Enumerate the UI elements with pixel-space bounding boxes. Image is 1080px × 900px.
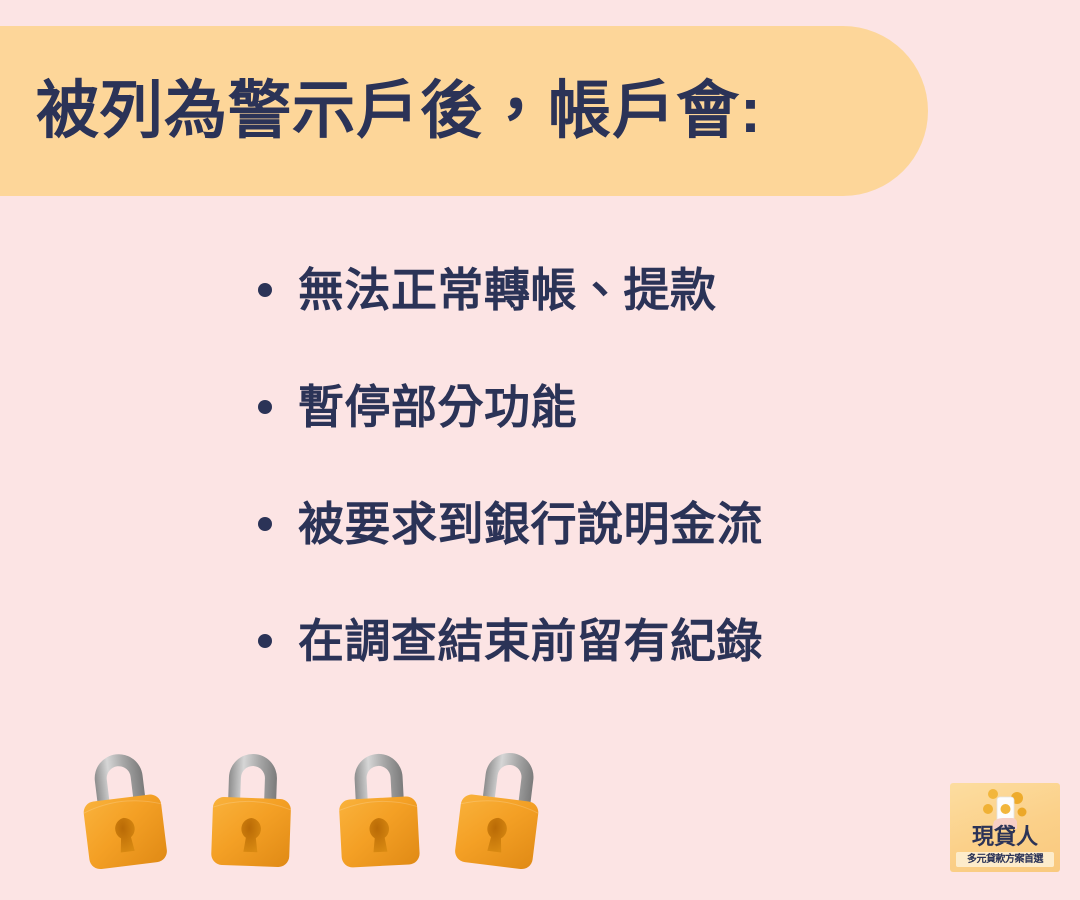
list-item: 暫停部分功能 (258, 372, 958, 442)
padlock-closed-icon (66, 735, 177, 876)
slide-canvas: 被列為警示戶後，帳戶會: 無法正常轉帳、提款 暫停部分功能 被要求到銀行說明金流… (0, 0, 1080, 900)
bullet-dot-icon (258, 517, 272, 531)
list-item: 被要求到銀行說明金流 (258, 489, 958, 559)
list-item: 無法正常轉帳、提款 (258, 255, 958, 325)
bullet-dot-icon (258, 400, 272, 414)
bullet-dot-icon (258, 634, 272, 648)
list-item-label: 在調查結束前留有紀錄 (298, 618, 763, 664)
padlock-open-icon (444, 735, 555, 876)
list-item: 在調查結束前留有紀錄 (258, 606, 958, 676)
list-item-label: 無法正常轉帳、提款 (298, 267, 717, 313)
brand-tagline: 多元貸款方案首選 (956, 852, 1054, 867)
hand-phone-coins-icon (950, 785, 1060, 829)
header-banner: 被列為警示戶後，帳戶會: (0, 26, 928, 196)
brand-name: 現貸人 (950, 826, 1060, 848)
padlock-open-icon (327, 738, 430, 873)
padlock-illustration-row (74, 740, 574, 875)
brand-logo: 現貸人 多元貸款方案首選 (950, 783, 1060, 872)
bullet-dot-icon (258, 283, 272, 297)
list-item-label: 被要求到銀行說明金流 (298, 501, 763, 547)
page-title: 被列為警示戶後，帳戶會: (36, 80, 762, 143)
consequences-list: 無法正常轉帳、提款 暫停部分功能 被要求到銀行說明金流 在調查結束前留有紀錄 (258, 255, 958, 676)
padlock-closed-icon (202, 738, 302, 871)
list-item-label: 暫停部分功能 (298, 384, 577, 430)
